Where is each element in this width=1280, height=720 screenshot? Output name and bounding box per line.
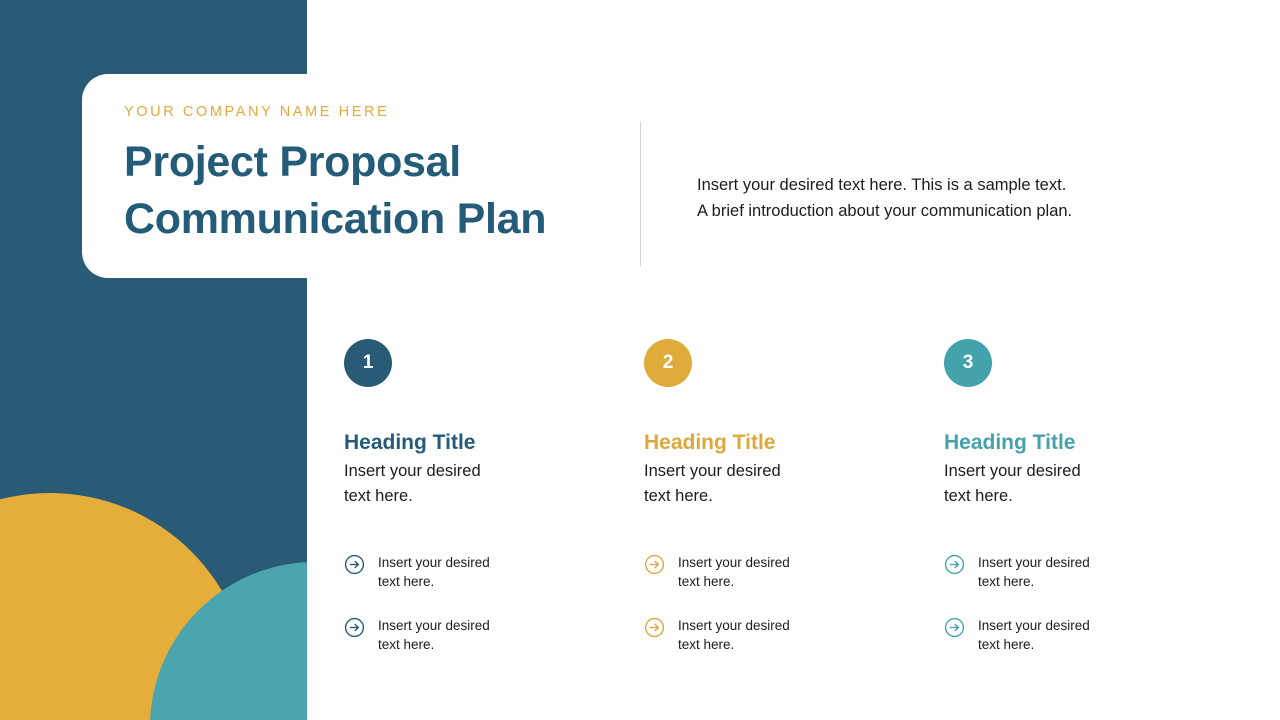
column-3-number-badge: 3 [944,339,992,387]
column-1-subtext-line-2: text here. [344,487,413,505]
circle-arrow-right-icon [344,554,365,575]
list-item-text: Insert your desired text here. [678,553,790,591]
list-item-text: Insert your desired text here. [978,553,1090,591]
list-item-line-1: Insert your desired [378,618,490,633]
column-2-subtext-line-1: Insert your desired [644,462,781,480]
list-item-line-1: Insert your desired [978,555,1090,570]
list-item-line-1: Insert your desired [678,618,790,633]
slide-canvas: YOUR COMPANY NAME HERE Project Proposal … [0,0,1280,720]
list-item-line-2: text here. [678,637,734,652]
list-item-text: Insert your desired text here. [378,553,490,591]
list-item-text: Insert your desired text here. [678,616,790,654]
column-1-number: 1 [363,352,374,374]
list-item-line-2: text here. [978,637,1034,652]
column-1-bullet-list: Insert your desired text here. Insert yo… [344,553,604,654]
column-2-subtext: Insert your desired text here. [644,459,904,509]
list-item: Insert your desired text here. [644,616,904,654]
column-2-number-badge: 2 [644,339,692,387]
column-2-number: 2 [663,352,674,374]
list-item: Insert your desired text here. [644,553,904,591]
circle-arrow-right-icon [644,617,665,638]
list-item-text: Insert your desired text here. [378,616,490,654]
column-1: 1 Heading Title Insert your desired text… [344,339,644,679]
columns-container: 1 Heading Title Insert your desired text… [344,339,1244,679]
column-2-subtext-line-2: text here. [644,487,713,505]
column-1-subtext: Insert your desired text here. [344,459,604,509]
list-item-line-2: text here. [678,574,734,589]
column-3-subtext-line-1: Insert your desired [944,462,1081,480]
column-3-subtext-line-2: text here. [944,487,1013,505]
column-2-heading: Heading Title [644,430,904,456]
list-item: Insert your desired text here. [944,616,1204,654]
column-3-number: 3 [963,352,974,374]
circle-arrow-right-icon [344,617,365,638]
list-item-line-2: text here. [978,574,1034,589]
list-item-line-2: text here. [378,574,434,589]
column-2: 2 Heading Title Insert your desired text… [644,339,944,679]
column-3-subtext: Insert your desired text here. [944,459,1204,509]
column-1-heading: Heading Title [344,430,604,456]
intro-paragraph: Insert your desired text here. This is a… [697,172,1217,224]
circle-arrow-right-icon [644,554,665,575]
list-item: Insert your desired text here. [944,553,1204,591]
list-item-line-1: Insert your desired [978,618,1090,633]
circle-arrow-right-icon [944,554,965,575]
list-item-line-2: text here. [378,637,434,652]
list-item-line-1: Insert your desired [678,555,790,570]
title-card: YOUR COMPANY NAME HERE Project Proposal … [82,74,642,278]
intro-line-2: A brief introduction about your communic… [697,198,1217,224]
column-3: 3 Heading Title Insert your desired text… [944,339,1244,679]
column-3-heading: Heading Title [944,430,1204,456]
page-title-line-2: Communication Plan [124,195,546,243]
intro-line-1: Insert your desired text here. This is a… [697,172,1217,198]
column-1-number-badge: 1 [344,339,392,387]
column-2-bullet-list: Insert your desired text here. Insert yo… [644,553,904,654]
list-item-line-1: Insert your desired [378,555,490,570]
list-item: Insert your desired text here. [344,616,604,654]
list-item-text: Insert your desired text here. [978,616,1090,654]
page-title-line-1: Project Proposal [124,138,461,186]
circle-arrow-right-icon [944,617,965,638]
column-3-bullet-list: Insert your desired text here. Insert yo… [944,553,1204,654]
list-item: Insert your desired text here. [344,553,604,591]
page-title: Project Proposal Communication Plan [124,134,642,248]
vertical-divider [640,122,641,266]
column-1-subtext-line-1: Insert your desired [344,462,481,480]
company-name-eyebrow: YOUR COMPANY NAME HERE [124,104,642,120]
